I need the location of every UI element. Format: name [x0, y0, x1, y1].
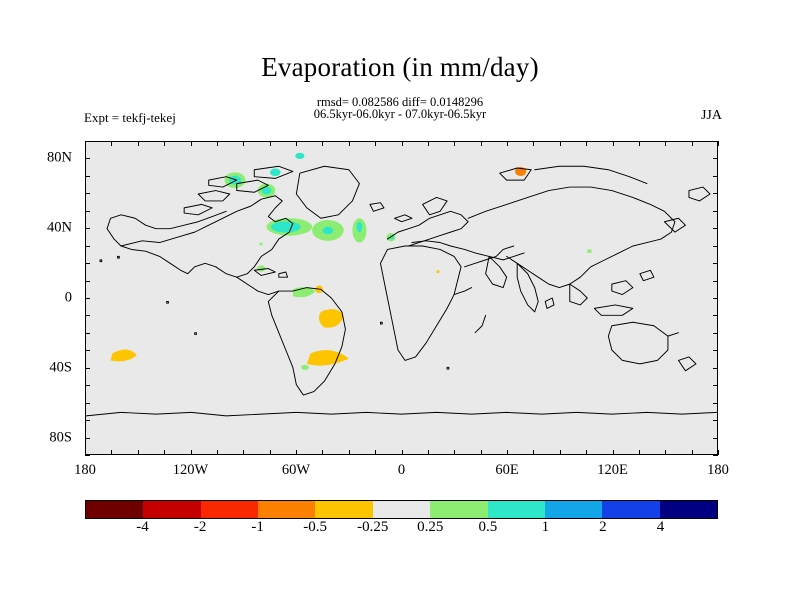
blob-south-pacific — [111, 350, 137, 362]
y-tick-right — [713, 158, 718, 159]
x-tick — [481, 450, 482, 455]
x-tick — [322, 450, 323, 455]
y-tick — [85, 333, 90, 334]
colorbar-band-8[interactable] — [545, 501, 602, 518]
x-tick-top — [111, 141, 112, 146]
colorbar-band-9[interactable] — [602, 501, 659, 518]
y-tick-right — [713, 385, 718, 386]
coast-island-small-5 — [447, 367, 449, 369]
y-tick-right — [713, 403, 718, 404]
x-tick-top — [613, 141, 614, 146]
x-tick — [533, 450, 534, 455]
y-tick — [85, 438, 90, 439]
colorbar-label: -0.5 — [303, 519, 327, 536]
x-tick-top — [428, 141, 429, 146]
x-tick-top — [164, 141, 165, 146]
x-tick — [428, 450, 429, 455]
x-tick — [217, 450, 218, 455]
coast-arctic-island-1 — [198, 191, 230, 201]
y-tick-right — [713, 368, 718, 369]
coast-pacific-island — [668, 333, 679, 336]
x-tick-top — [692, 141, 693, 146]
blob-na-small — [260, 243, 263, 246]
x-tick-top — [586, 141, 587, 146]
x-tick — [454, 450, 455, 455]
x-tick — [111, 450, 112, 455]
y-tick — [85, 158, 90, 159]
y-tick — [85, 350, 90, 351]
y-tick — [85, 420, 90, 421]
colorbar[interactable] — [85, 500, 718, 519]
x-tick-top — [533, 141, 534, 146]
colorbar-label: -0.25 — [357, 519, 388, 536]
x-tick-top — [270, 141, 271, 146]
coast-south-america — [268, 288, 345, 395]
x-tick-top — [454, 141, 455, 146]
y-tick — [85, 455, 90, 456]
y-tick — [85, 141, 90, 142]
x-tick — [243, 450, 244, 455]
x-tick-top — [507, 141, 508, 146]
blob-baffin — [270, 169, 281, 177]
x-axis-label: 60W — [282, 462, 310, 479]
x-axis-label: 180 — [707, 462, 729, 479]
season-label: JJA — [701, 108, 722, 124]
y-tick-right — [713, 263, 718, 264]
x-tick — [665, 450, 666, 455]
y-tick — [85, 228, 90, 229]
y-tick-right — [713, 350, 718, 351]
blob-arctic-north — [295, 153, 304, 159]
y-tick-right — [713, 211, 718, 212]
coast-greenland — [296, 166, 359, 218]
y-tick — [85, 193, 90, 194]
x-tick — [718, 450, 719, 455]
colorbar-label: -1 — [251, 519, 264, 536]
colorbar-bands[interactable] — [85, 500, 718, 519]
coast-island-small-4 — [380, 322, 382, 324]
x-tick-top — [322, 141, 323, 146]
x-axis-label: 120W — [173, 462, 208, 479]
coast-siberia-arctic — [535, 166, 647, 183]
x-tick-top — [138, 141, 139, 146]
y-tick — [85, 403, 90, 404]
y-tick-right — [713, 141, 718, 142]
coast-hawaii — [100, 260, 102, 262]
y-tick — [85, 263, 90, 264]
colorbar-label: -2 — [194, 519, 207, 536]
coast-indochina — [570, 284, 588, 305]
colorbar-band-5[interactable] — [373, 501, 430, 518]
coast-arctic-island-5 — [184, 204, 212, 214]
colorbar-label: 4 — [657, 519, 665, 536]
y-tick-right — [713, 246, 718, 247]
coastline-layer — [86, 166, 717, 416]
colorbar-label: 1 — [542, 519, 550, 536]
y-tick-right — [713, 420, 718, 421]
blob-mid-atlantic-core — [357, 222, 363, 232]
coast-hispaniola — [279, 272, 288, 277]
x-tick-top — [243, 141, 244, 146]
x-tick — [639, 450, 640, 455]
experiment-label: Expt = tekfj-tekej — [84, 110, 176, 126]
blob-brazil-coast — [319, 309, 344, 328]
y-tick-right — [713, 281, 718, 282]
y-tick-right — [713, 455, 718, 456]
coast-british-isles — [394, 215, 412, 222]
x-tick — [692, 450, 693, 455]
x-tick — [375, 450, 376, 455]
colorbar-band-2[interactable] — [201, 501, 258, 518]
x-tick-top — [375, 141, 376, 146]
colorbar-label: 2 — [599, 519, 607, 536]
blob-south-atlantic-green — [301, 365, 309, 370]
y-tick — [85, 298, 90, 299]
coast-philippines — [640, 270, 654, 280]
anomaly-shading-layer — [111, 153, 592, 370]
coast-horn-africa — [454, 288, 472, 295]
y-axis-label: 40S — [28, 359, 72, 376]
y-tick — [85, 368, 90, 369]
coast-kamchatka — [689, 187, 710, 201]
y-tick-right — [713, 298, 718, 299]
coast-madagascar — [475, 315, 486, 332]
x-axis-label: 120E — [597, 462, 628, 479]
x-tick-top — [217, 141, 218, 146]
colorbar-band-6[interactable] — [430, 501, 487, 518]
x-axis-label: 180 — [74, 462, 96, 479]
x-tick — [402, 450, 403, 455]
x-tick — [560, 450, 561, 455]
colorbar-band-3[interactable] — [258, 501, 315, 518]
figure-canvas: Evaporation (in mm/day) rmsd= 0.082586 d… — [0, 0, 800, 600]
x-tick — [164, 450, 165, 455]
x-tick — [507, 450, 508, 455]
x-tick-top — [665, 141, 666, 146]
coast-central-america — [237, 277, 279, 294]
x-tick — [191, 450, 192, 455]
y-axis-label: 0 — [28, 290, 72, 307]
coast-indonesia — [594, 305, 633, 315]
x-tick-top — [718, 141, 719, 146]
coast-island-small-2 — [167, 301, 169, 303]
x-tick — [270, 450, 271, 455]
coast-sri-lanka — [545, 298, 554, 308]
coast-japan — [664, 218, 685, 232]
x-tick-top — [191, 141, 192, 146]
y-tick — [85, 385, 90, 386]
coast-arabia — [486, 256, 507, 287]
coast-island-small-1 — [118, 256, 120, 258]
y-tick-right — [713, 315, 718, 316]
y-axis-label: 40N — [28, 220, 72, 237]
world-map-svg — [86, 142, 717, 454]
x-axis-label: 60E — [495, 462, 518, 479]
blob-north-atlantic-core — [323, 227, 334, 235]
x-tick — [138, 450, 139, 455]
colorbar-band-1[interactable] — [143, 501, 200, 518]
colorbar-label: 0.5 — [478, 519, 497, 536]
y-tick-right — [713, 228, 718, 229]
x-tick-top — [349, 141, 350, 146]
y-tick — [85, 211, 90, 212]
blob-south-atlantic — [307, 350, 349, 365]
x-tick — [613, 450, 614, 455]
colorbar-band-10[interactable] — [660, 501, 717, 518]
colorbar-band-7[interactable] — [488, 501, 545, 518]
y-tick-right — [713, 176, 718, 177]
blob-gulf-stream-core — [271, 221, 301, 232]
blob-caribbean — [257, 265, 265, 271]
y-tick — [85, 246, 90, 247]
y-tick-right — [713, 193, 718, 194]
colorbar-label: -4 — [136, 519, 149, 536]
coast-australia — [608, 322, 668, 364]
y-tick — [85, 176, 90, 177]
coast-north-america — [121, 196, 293, 277]
x-tick-top — [481, 141, 482, 146]
x-tick — [586, 450, 587, 455]
y-axis-label: 80N — [28, 150, 72, 167]
blob-atlantic-africa — [437, 270, 440, 273]
y-tick-right — [713, 333, 718, 334]
y-tick-right — [713, 438, 718, 439]
blob-east-asia — [587, 249, 591, 252]
coast-antarctica — [86, 412, 717, 415]
coast-iceland — [370, 203, 384, 212]
coast-island-small-3 — [195, 333, 197, 335]
coast-new-zealand — [678, 357, 696, 371]
y-tick — [85, 315, 90, 316]
coast-scandinavia — [423, 197, 448, 214]
page-title: Evaporation (in mm/day) — [0, 52, 800, 83]
x-tick-top — [402, 141, 403, 146]
coast-borneo — [612, 281, 633, 295]
x-tick-top — [639, 141, 640, 146]
colorbar-band-4[interactable] — [315, 501, 372, 518]
x-tick-top — [296, 141, 297, 146]
colorbar-band-0[interactable] — [86, 501, 143, 518]
colorbar-label: 0.25 — [417, 519, 443, 536]
x-tick-top — [560, 141, 561, 146]
y-tick — [85, 281, 90, 282]
x-tick — [296, 450, 297, 455]
coast-novaya-zemlya — [500, 168, 532, 180]
coast-africa — [380, 246, 461, 360]
y-axis-label: 80S — [28, 429, 72, 446]
x-axis-label: 0 — [398, 462, 405, 479]
map-plot-area — [85, 141, 718, 455]
x-tick — [349, 450, 350, 455]
